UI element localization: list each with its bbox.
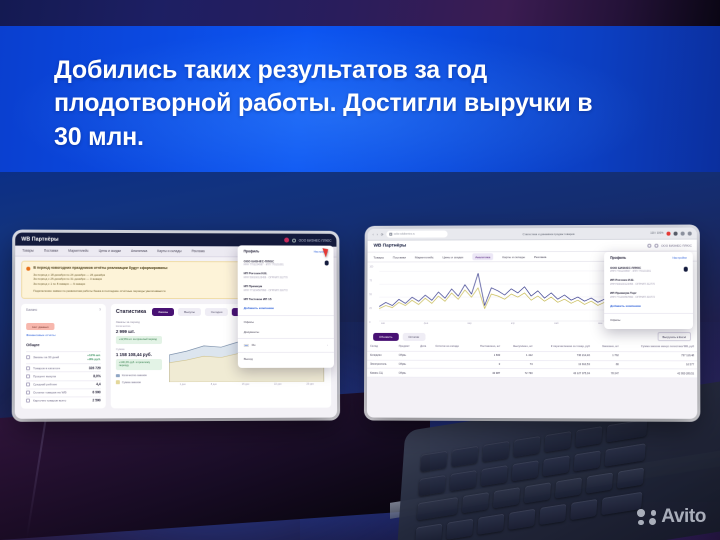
export-excel-button[interactable]: Выгрузить в Excel — [657, 332, 691, 341]
avito-logo-icon — [637, 509, 656, 525]
avito-watermark: Avito — [637, 506, 706, 528]
stock-button[interactable]: Остатки — [402, 333, 425, 341]
metric-label: Процент выкупа — [33, 374, 56, 378]
browser-url-bar[interactable]: seller.wildberries.ru — [386, 231, 447, 238]
account-option[interactable]: ООО БИЗНЕС-ПЛЮС ИНН 7701234567 · КПП 770… — [604, 263, 693, 276]
cell: 78 247 — [593, 369, 622, 378]
account-sub: ИНН 500100123456 · ОГРНИП 312770 — [244, 276, 328, 279]
cell: 42 950 280,51 — [622, 369, 697, 378]
summary-card-header: Баланс ? — [26, 307, 101, 311]
profile-icon[interactable] — [688, 231, 692, 235]
account-name: ИП Рогозин И.В. — [610, 278, 687, 282]
cell — [417, 360, 432, 369]
account-sub: ИНН 500100123456 · ОГРНИП 312770 — [610, 283, 687, 286]
box-icon — [26, 391, 30, 395]
page-title: Добились таких результатов за год плодот… — [54, 54, 614, 154]
cell — [432, 369, 470, 378]
metric-row: Карточек товаров всего 2 500 — [26, 396, 101, 404]
col-header: Заказано, шт — [593, 343, 622, 351]
cell: Обувь — [396, 360, 418, 369]
chevron-right-icon: › — [327, 344, 328, 347]
left-nav-item-3[interactable]: Цены и скидки — [99, 249, 121, 253]
sum-delta-badge: +146,2% руб. к прошлому периоду — [116, 359, 162, 370]
language-label: Ru — [252, 343, 256, 347]
downloads-icon[interactable] — [681, 231, 685, 235]
divider — [238, 338, 334, 339]
avito-label: Avito — [661, 506, 706, 528]
trend-up-icon — [26, 356, 30, 360]
right-profile-dropdown: Профиль Настройки ООО БИЗНЕС-ПЛЮС ИНН 77… — [604, 252, 693, 329]
chevron-left-icon[interactable]: ‹ — [373, 232, 374, 236]
stats-caption: Заказы за период — [116, 319, 162, 323]
menu-item-documents[interactable]: Документы — [238, 327, 334, 336]
menu-item-label: Офисы — [610, 318, 620, 322]
cell: 1 412 — [503, 351, 535, 360]
sum-value: 1 158 108,44 руб. — [116, 352, 162, 357]
browser-tab-title[interactable]: Статистика и динамика продаж товаров — [451, 231, 648, 236]
cell: 13 910,53 — [536, 360, 593, 369]
metric-value: 6 900 — [92, 391, 100, 395]
left-chart-xaxis: 1 дек 8 дек 15 дек 22 дек 29 дек — [167, 382, 326, 385]
account-name: ИП Тестовое ИП 15 — [244, 297, 328, 301]
data-table: Склад Предмет Дата Остаток на складе Пос… — [367, 343, 697, 379]
col-header: Дата — [417, 343, 432, 351]
cell: 43 127 075,34 — [536, 369, 593, 378]
cell — [417, 351, 432, 360]
xtick: апр — [511, 323, 515, 325]
dropdown-title: Профиль — [610, 256, 626, 260]
left-dashboard-window: WB Партнёры ООО БИЗНЕС-ПЛЮС Товары Поста… — [15, 233, 337, 419]
cell: 736 214,46 — [536, 351, 593, 360]
url-text: seller.wildberries.ru — [394, 233, 415, 236]
table-toolbar: Обновить Остатки Выгрузить в Excel — [367, 330, 697, 343]
browser-right-controls: 120 / 100% — [650, 231, 692, 235]
xtick: 8 дек — [211, 382, 217, 385]
summary-section-title: Общее — [26, 342, 101, 347]
cell: Коледино — [367, 351, 396, 360]
ytick: 75 — [369, 280, 373, 282]
extension-icon[interactable] — [666, 231, 670, 235]
right-nav-item-0[interactable]: Товары — [373, 255, 384, 259]
metric-value: 8,0% — [93, 374, 101, 378]
browser-nav-buttons: ‹ › ⟳ — [373, 232, 384, 236]
cell: 1 762 — [593, 351, 622, 360]
right-nav-item-6[interactable]: Реклама — [534, 255, 546, 259]
add-company-button[interactable]: Добавить компанию — [238, 303, 334, 313]
xtick: янв — [381, 323, 385, 325]
left-app-logo: WB Партнёры — [21, 236, 58, 242]
cell: 73 — [503, 360, 535, 369]
logout-label: Выход — [244, 357, 253, 361]
qty-label: Количество — [116, 325, 162, 328]
right-header-actions: ООО БИЗНЕС-ПЛЮС — [647, 243, 692, 247]
account-name: ИП Рогозин И.В. — [244, 272, 328, 276]
col-header: Склад — [367, 343, 396, 351]
divider — [238, 352, 334, 353]
xtick: фев — [424, 323, 428, 325]
account-option[interactable]: ИП Рогозин И.В. ИНН 500100123456 · ОГРНИ… — [238, 269, 334, 282]
reload-icon[interactable]: ⟳ — [381, 232, 384, 236]
account-name: ИП Премиум-Торг — [610, 291, 687, 295]
qty-value: 2 999 шт. — [116, 329, 162, 334]
dropdown-settings-link[interactable]: Настройки — [672, 256, 686, 260]
account-option[interactable]: ИП Премиум-Торг ИНН 771234567890 · ОГРНИ… — [604, 288, 693, 301]
cell: 40 987 — [470, 369, 503, 378]
left-account-label[interactable]: ООО БИЗНЕС-ПЛЮС — [299, 238, 332, 242]
account-option[interactable]: ИП Премиум ИНН 771234567890 · ОГРНИП 316… — [238, 282, 334, 295]
menu-item-label: Документы — [244, 330, 259, 334]
right-nav-item-3[interactable]: Цены и скидки — [443, 255, 464, 259]
metric-label: Карточек товаров всего — [33, 399, 66, 403]
gear-icon[interactable] — [654, 243, 658, 247]
left-nav-item-1[interactable]: Поставки — [44, 249, 58, 253]
growth-value-1: +9% руб. — [87, 357, 101, 361]
left-nav-item-5[interactable]: Карты и склады — [157, 249, 181, 253]
cell: 80 — [593, 360, 622, 369]
left-nav-item-6[interactable]: Реклама — [192, 249, 205, 253]
status-badge: Нет данных — [26, 323, 55, 330]
menu-item-offices[interactable]: Офисы — [238, 318, 334, 327]
cell: 1 660 — [470, 351, 503, 360]
cell: 737 119,48 — [622, 351, 697, 360]
qty-delta-badge: +12,9% шт. за прошлый период — [116, 336, 162, 344]
right-app-logo: WB Партнёры — [373, 244, 406, 249]
refresh-button[interactable]: Обновить — [373, 333, 398, 341]
xtick: 22 дек — [274, 382, 281, 385]
right-account-label[interactable]: ООО БИЗНЕС-ПЛЮС — [661, 243, 692, 247]
poster-canvas: Добились таких результатов за год плодот… — [0, 0, 720, 540]
account-option[interactable]: ООО БИЗНЕС-ПЛЮС ИНН 7701234567 · КПП 770… — [238, 256, 334, 269]
left-nav-item-4[interactable]: Аналитика — [131, 249, 147, 253]
legend-swatch-orders — [116, 374, 120, 378]
cell: 72 730 — [503, 369, 535, 378]
zoom-level[interactable]: 120 / 100% — [650, 232, 663, 235]
metric-value: 326 729 — [89, 366, 101, 370]
statistics-figures: Заказы за период Количество 2 999 шт. +1… — [116, 319, 162, 384]
menu-item-label: Офисы — [244, 321, 254, 325]
metric-row: Остатки товаров на WB 6 900 — [26, 388, 101, 396]
right-nav-item-2[interactable]: Маркетплейс — [415, 255, 434, 259]
financial-reports-link[interactable]: Финансовые отчёты — [26, 333, 101, 337]
chart-legend-item: Сумма заказов — [116, 380, 162, 384]
right-app-header: WB Партнёры ООО БИЗНЕС-ПЛЮС — [368, 240, 697, 253]
account-option[interactable]: ИП Рогозин И.В. ИНН 500100123456 · ОГРНИ… — [604, 276, 693, 289]
stats-chip-orders[interactable]: Заказы — [152, 307, 174, 315]
cell: Обувь — [396, 351, 418, 360]
stats-chip-buyouts[interactable]: Выкупы — [178, 308, 201, 316]
chart-legend-item: Количество заказов — [116, 374, 162, 378]
xtick: май — [554, 323, 558, 325]
cell: 16 577 — [622, 360, 697, 369]
cell: Обувь — [396, 369, 418, 378]
notifications-icon[interactable] — [647, 243, 651, 247]
col-header: Остаток на складе — [432, 343, 470, 351]
xtick: мар — [467, 323, 471, 325]
add-company-button[interactable]: Добавить компанию — [604, 301, 693, 311]
metric-label: Товаров в каталоге — [33, 366, 60, 370]
xtick: 29 дек — [306, 382, 313, 385]
col-header: Сумма заказов минус логистика WB, руб — [622, 343, 697, 351]
col-header: Предмет — [396, 343, 418, 351]
chevron-right-icon[interactable]: › — [377, 232, 378, 236]
account-sub: ИНН 7701234567 · КПП 770101001 — [244, 264, 328, 267]
right-nav-item-1[interactable]: Поставки — [393, 255, 406, 259]
account-sub: ИНН 771234567890 · ОГРНИП 316772 — [244, 289, 328, 292]
ytick: 100 — [369, 266, 373, 268]
account-name: ООО БИЗНЕС-ПЛЮС — [610, 265, 687, 269]
cell: Электросталь — [367, 360, 396, 369]
percent-icon — [26, 374, 30, 378]
selected-icon — [683, 267, 688, 272]
star-icon — [26, 383, 30, 387]
ytick: 50 — [369, 294, 373, 296]
logout-button[interactable]: Выход — [238, 354, 334, 363]
metric-label: Средний рейтинг — [33, 382, 57, 386]
ytick: 0 — [369, 322, 373, 324]
sum-label: Сумма — [116, 348, 162, 351]
metric-row: Средний рейтинг 4,4 — [26, 380, 101, 388]
ytick: 25 — [369, 308, 373, 310]
language-selector[interactable]: Ru › — [238, 341, 334, 350]
notifications-icon[interactable] — [284, 238, 289, 243]
growth-row: Заказы за 30 дней +12% шт. +9% руб. — [26, 351, 101, 364]
card-icon — [26, 399, 30, 403]
table-row[interactable]: Казань СЦ Обувь 40 987 72 730 43 127 075… — [367, 369, 697, 379]
right-chart-yaxis: 100 75 50 25 0 — [369, 266, 373, 324]
col-header: Выкуплено, шт — [503, 343, 535, 351]
menu-icon[interactable] — [674, 231, 678, 235]
statistics-title: Статистика — [116, 308, 146, 314]
right-nav-item-4[interactable]: Аналитика — [472, 254, 493, 260]
metric-value: 2 500 — [92, 399, 100, 403]
legend-label-orders: Количество заказов — [122, 374, 147, 377]
col-header: К перечислению за товар, руб — [536, 343, 593, 351]
left-nav-item-2[interactable]: Маркетплейс — [68, 249, 88, 253]
cell: 0 — [470, 360, 503, 369]
selected-icon — [324, 261, 328, 265]
growth-values: +12% шт. +9% руб. — [87, 353, 101, 361]
account-name: ООО БИЗНЕС-ПЛЮС — [244, 259, 328, 263]
info-icon[interactable]: ? — [99, 307, 101, 311]
divider — [604, 313, 693, 314]
dropdown-title: Профиль — [244, 249, 260, 253]
flag-icon — [244, 344, 249, 347]
background-top-strip — [0, 0, 720, 26]
col-header: Поставлено, шт — [470, 343, 503, 351]
stats-chip-today[interactable]: Сегодня — [205, 308, 228, 316]
right-nav-item-5[interactable]: Карты и склады — [502, 255, 525, 259]
metric-value: 4,4 — [96, 382, 101, 386]
left-nav-item-0[interactable]: Товары — [22, 249, 33, 253]
left-profile-dropdown: Профиль Настройки ООО БИЗНЕС-ПЛЮС ИНН 77… — [238, 245, 334, 367]
cell — [432, 351, 470, 360]
account-name: ИП Премиум — [244, 284, 328, 288]
cell — [432, 360, 470, 369]
cell: Казань СЦ — [367, 369, 396, 378]
metric-label: Остатки товаров на WB — [33, 391, 66, 395]
summary-card: Баланс ? Нет данных Финансовые отчёты Об… — [21, 303, 106, 408]
legend-label-sum: Сумма заказов — [122, 381, 141, 384]
metric-row: Процент выкупа 8,0% — [26, 371, 101, 379]
account-option[interactable]: ИП Тестовое ИП 15 — [238, 294, 334, 303]
legend-swatch-sum — [116, 381, 120, 385]
right-browser-window: ‹ › ⟳ seller.wildberries.ru Статистика и… — [367, 228, 697, 419]
metric-row: Товаров в каталоге 326 729 — [26, 363, 101, 371]
xtick: июн — [598, 323, 602, 325]
xtick: 15 дек — [242, 382, 249, 385]
cell — [417, 369, 432, 378]
growth-label: Заказы за 30 дней — [33, 356, 59, 360]
menu-item-offices[interactable]: Офисы — [604, 316, 693, 325]
account-sub: ИНН 771234567890 · ОГРНИП 316772 — [610, 296, 687, 299]
account-sub: ИНН 7701234567 · КПП 770101001 — [610, 270, 687, 273]
warning-icon — [26, 266, 30, 270]
gear-icon[interactable] — [292, 238, 296, 242]
catalog-icon — [26, 366, 30, 370]
balance-label: Баланс — [26, 307, 37, 311]
xtick: 1 дек — [180, 383, 186, 386]
lock-icon — [389, 233, 391, 236]
divider — [238, 315, 334, 316]
